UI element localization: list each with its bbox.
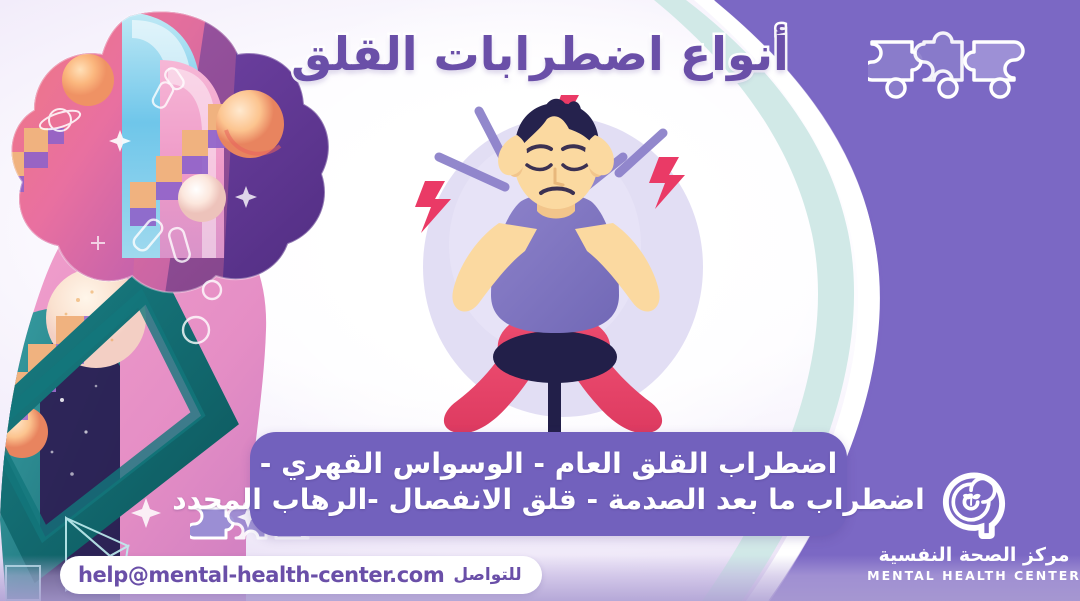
- caption-line-1: اضطراب القلق العام - الوسواس القهري -: [260, 447, 838, 481]
- brand-name-ar: مركز الصحة النفسية: [879, 545, 1070, 566]
- brand-name-en: MENTAL HEALTH CENTER: [867, 569, 1080, 583]
- caption-banner: اضطراب القلق العام - الوسواس القهري - اض…: [250, 432, 847, 536]
- contact-email[interactable]: help@mental-health-center.com: [78, 563, 444, 587]
- brand-logo: مركز الصحة النفسية MENTAL HEALTH CENTER: [886, 468, 1062, 583]
- poster-canvas: أنواع اضطرابات القلق اضطراب القلق العام …: [0, 0, 1080, 601]
- page-title: أنواع اضطرابات القلق: [220, 26, 860, 84]
- contact-pill[interactable]: للتواصل help@mental-health-center.com: [60, 556, 542, 594]
- puzzle-pieces-icon: [868, 18, 1068, 120]
- contact-label: للتواصل: [453, 565, 521, 585]
- caption-line-2: اضطراب ما بعد الصدمة - قلق الانفصال -الر…: [172, 483, 925, 517]
- head-brain-spiral-leaf-icon: [937, 468, 1011, 542]
